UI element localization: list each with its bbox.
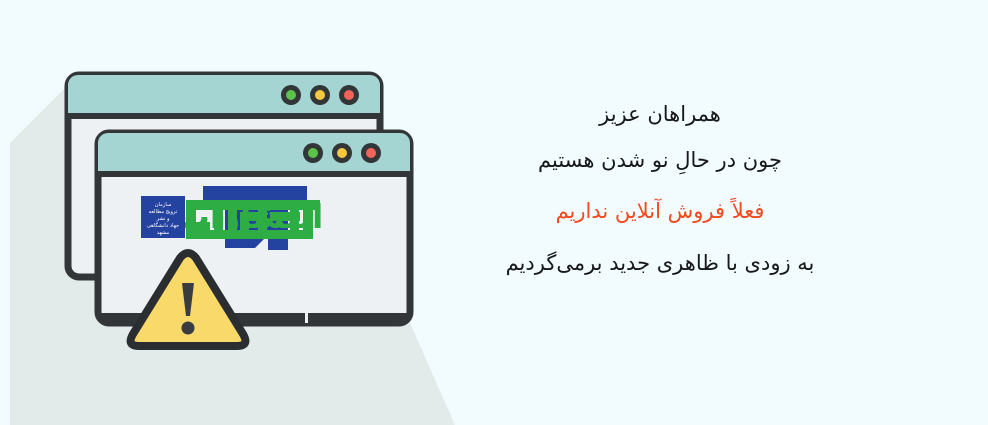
traffic-light-green-icon[interactable] (286, 90, 296, 100)
logo-badge-line-2: ترویج مطالعه (149, 209, 178, 215)
traffic-light-green-icon[interactable] (308, 148, 318, 158)
message-line-no-online-sales: فعلاً فروش آنلاین نداریم (430, 197, 890, 249)
message-line-greeting: همراهان عزیز (430, 100, 890, 146)
maintenance-message-panel: همراهان عزیز چون در حالِ نو شدن هستیم فع… (430, 100, 890, 277)
window-back-titlebar (68, 75, 380, 115)
browser-window-front[interactable]: انتشارات سازمان ترویج مطالعه و نشر جهاد … (98, 133, 410, 324)
window-front-traffic-lights[interactable] (303, 143, 381, 163)
logo-badge-line-1: سازمان (155, 202, 172, 208)
logo-badge-line-5: مشهد (157, 230, 170, 236)
message-line-coming-soon: به زودی با ظاهری جدید برمی‌گردیم (430, 249, 890, 277)
traffic-light-yellow-icon[interactable] (337, 148, 347, 158)
warning-exclamation-dot (182, 322, 195, 335)
window-front-footer-divider (305, 310, 308, 324)
maintenance-illustration: انتشارات سازمان ترویج مطالعه و نشر جهاد … (0, 0, 500, 425)
window-back-titlebar-rule (68, 113, 380, 119)
logo-badge-line-4: جهاد دانشگاهی (147, 222, 179, 229)
maintenance-page: انتشارات سازمان ترویج مطالعه و نشر جهاد … (0, 0, 988, 425)
window-front-titlebar-rule (98, 171, 410, 177)
traffic-light-yellow-icon[interactable] (315, 90, 325, 100)
traffic-light-red-icon[interactable] (366, 148, 376, 158)
window-back-traffic-lights[interactable] (281, 85, 359, 105)
logo-badge-line-3: و نشر (155, 216, 170, 222)
logo-wordmark-text: انتشارات (177, 197, 324, 236)
traffic-light-red-icon[interactable] (344, 90, 354, 100)
message-line-reason: چون در حالِ نو شدن هستیم (430, 146, 890, 196)
